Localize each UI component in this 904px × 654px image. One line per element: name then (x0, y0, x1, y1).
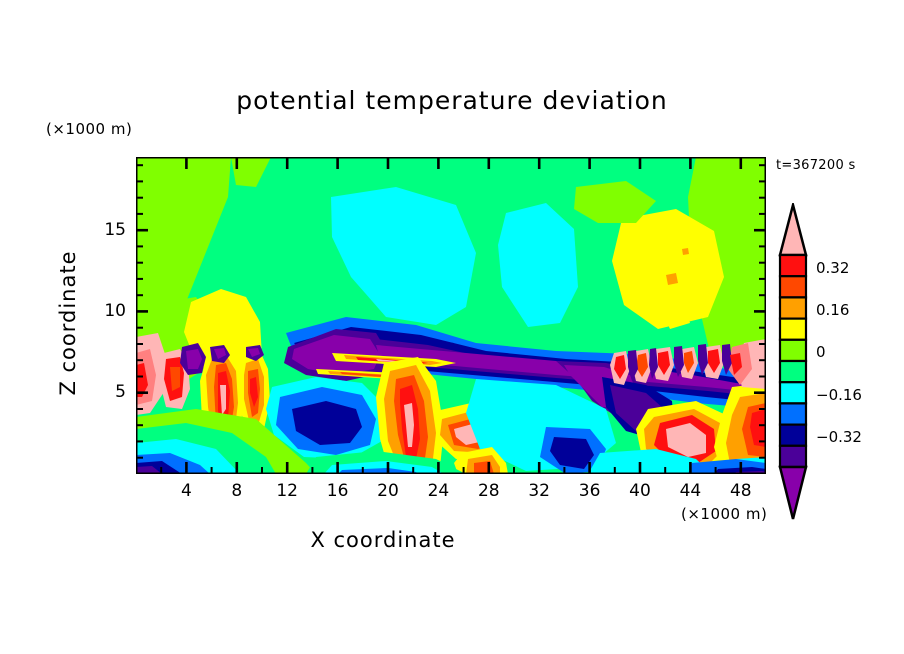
y-tick-label: 10 (86, 301, 126, 321)
x-tick-label: 44 (670, 481, 710, 501)
colorbar-over-cap (780, 205, 806, 255)
x-tick-label: 36 (570, 481, 610, 501)
x-tick-label: 28 (469, 481, 509, 501)
colorbar-bands (780, 255, 806, 467)
z-axis-units-label: (×1000 m) (46, 120, 132, 138)
x-tick-label: 4 (166, 481, 206, 501)
x-tick-label: 48 (721, 481, 761, 501)
x-tick-label: 8 (217, 481, 257, 501)
contour-field (136, 157, 766, 474)
timestamp-label: t=367200 s (776, 158, 856, 173)
x-tick-label: 32 (519, 481, 559, 501)
colorbar-tick-label: 0.16 (816, 301, 849, 319)
y-axis-title: Z coordinate (56, 203, 80, 443)
contour-bands (136, 157, 766, 474)
y-tick-label: 5 (86, 382, 126, 402)
colorbar-tick-label: −0.16 (816, 386, 862, 404)
colorbar-tick-label: 0.32 (816, 259, 849, 277)
page-title: potential temperature deviation (0, 86, 904, 115)
x-tick-label: 20 (368, 481, 408, 501)
x-axis-units-label: (×1000 m) (681, 505, 767, 523)
x-tick-label: 40 (620, 481, 660, 501)
y-tick-label: 15 (86, 220, 126, 240)
x-tick-label: 12 (267, 481, 307, 501)
colorbar-tick-label: −0.32 (816, 428, 862, 446)
x-tick-label: 16 (318, 481, 358, 501)
x-tick-label: 24 (418, 481, 458, 501)
colorbar (776, 203, 812, 521)
x-axis-title: X coordinate (0, 528, 766, 552)
contour-plot-figure: potential temperature deviation (×1000 m… (0, 0, 904, 654)
colorbar-under-cap (780, 467, 806, 519)
colorbar-tick-label: 0 (816, 343, 826, 361)
